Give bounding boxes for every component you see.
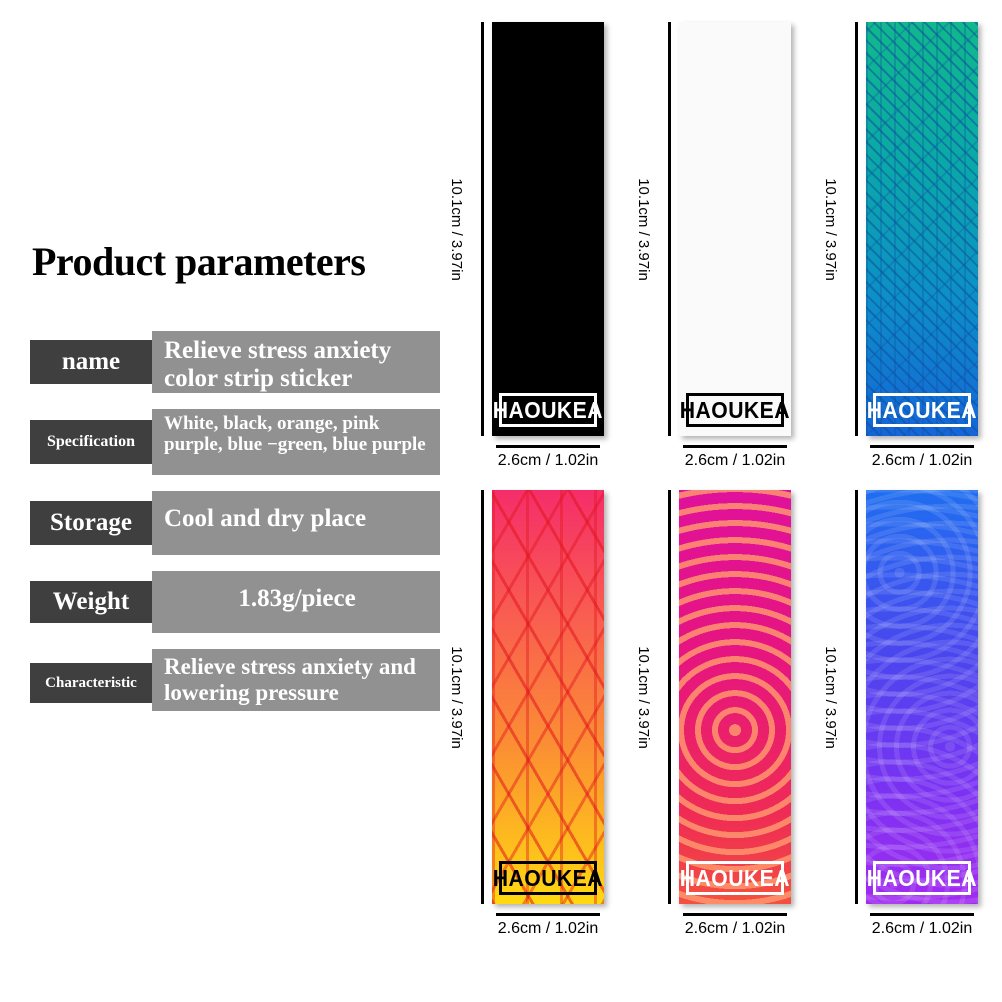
height-rule bbox=[481, 22, 484, 436]
table-row: name Relieve stress anxiety color strip … bbox=[30, 331, 440, 393]
table-row: Characteristic Relieve stress anxiety an… bbox=[30, 649, 440, 711]
width-measure-blue-green: 2.6cm / 1.02in bbox=[866, 445, 978, 470]
sticker-pattern-black bbox=[492, 22, 604, 436]
sticker-blue-green[interactable]: HAOUKEA bbox=[866, 22, 978, 436]
height-measure-black: 10.1cm / 3.97in bbox=[440, 22, 484, 436]
height-rule bbox=[855, 22, 858, 436]
height-rule bbox=[481, 490, 484, 904]
width-label: 2.6cm / 1.02in bbox=[872, 920, 973, 937]
sticker-black[interactable]: HAOUKEA bbox=[492, 22, 604, 436]
page-title: Product parameters bbox=[32, 238, 440, 285]
param-value-name: Relieve stress anxiety color strip stick… bbox=[152, 331, 440, 393]
sticker-cell-white: 10.1cm / 3.97in HAOUKEA 2.6cm / 1.02in bbox=[627, 22, 814, 470]
width-measure-white: 2.6cm / 1.02in bbox=[679, 445, 791, 470]
sticker-grid: 10.1cm / 3.97in HAOUKEA 2.6cm / 1.02in 1… bbox=[440, 22, 1002, 938]
table-row: Specification White, black, orange, pink… bbox=[30, 409, 440, 475]
sticker-white[interactable]: HAOUKEA bbox=[679, 22, 791, 436]
param-value-specification: White, black, orange, pink purple, blue … bbox=[152, 409, 440, 475]
height-measure-blue-green: 10.1cm / 3.97in bbox=[814, 22, 858, 436]
sticker-pattern-white bbox=[679, 22, 791, 436]
table-row: Storage Cool and dry place bbox=[30, 491, 440, 555]
height-label: 10.1cm / 3.97in bbox=[448, 646, 465, 749]
param-value-storage: Cool and dry place bbox=[152, 491, 440, 555]
param-value-characteristic: Relieve stress anxiety and lowering pres… bbox=[152, 649, 440, 711]
width-rule bbox=[496, 445, 600, 448]
sticker-cell-pink: 10.1cm / 3.97in HAOUKEA 2.6cm / 1.02in bbox=[627, 490, 814, 938]
width-label: 2.6cm / 1.02in bbox=[872, 452, 973, 469]
sticker-cell-blue-green: 10.1cm / 3.97in HAOUKEA 2.6cm / 1.02in bbox=[814, 22, 1001, 470]
param-key-name: name bbox=[30, 340, 152, 384]
width-rule bbox=[870, 445, 974, 448]
param-key-characteristic: Characteristic bbox=[30, 663, 152, 703]
brand-badge: HAOUKEA bbox=[686, 393, 784, 427]
width-label: 2.6cm / 1.02in bbox=[498, 920, 599, 937]
height-rule bbox=[668, 490, 671, 904]
param-value-weight: 1.83g/piece bbox=[152, 571, 440, 633]
brand-label: HAOUKEA bbox=[867, 397, 977, 424]
product-parameters-panel: Product parameters name Relieve stress a… bbox=[30, 238, 440, 727]
height-label: 10.1cm / 3.97in bbox=[635, 646, 652, 749]
width-rule bbox=[496, 913, 600, 916]
sticker-cell-blue-purple: 10.1cm / 3.97in HAOUKEA 2.6cm / 1.02in bbox=[814, 490, 1001, 938]
height-measure-orange: 10.1cm / 3.97in bbox=[440, 490, 484, 904]
width-rule bbox=[870, 913, 974, 916]
brand-label: HAOUKEA bbox=[493, 865, 603, 892]
height-measure-white: 10.1cm / 3.97in bbox=[627, 22, 671, 436]
brand-label: HAOUKEA bbox=[493, 397, 603, 424]
width-measure-black: 2.6cm / 1.02in bbox=[492, 445, 604, 470]
brand-badge: HAOUKEA bbox=[499, 393, 597, 427]
sticker-pattern-pink bbox=[679, 490, 791, 904]
width-measure-orange: 2.6cm / 1.02in bbox=[492, 913, 604, 938]
brand-badge: HAOUKEA bbox=[686, 861, 784, 895]
height-label: 10.1cm / 3.97in bbox=[822, 178, 839, 281]
width-label: 2.6cm / 1.02in bbox=[685, 920, 786, 937]
brand-label: HAOUKEA bbox=[867, 865, 977, 892]
sticker-orange[interactable]: HAOUKEA bbox=[492, 490, 604, 904]
height-rule bbox=[668, 22, 671, 436]
height-label: 10.1cm / 3.97in bbox=[635, 178, 652, 281]
sticker-blue-purple[interactable]: HAOUKEA bbox=[866, 490, 978, 904]
sticker-cell-black: 10.1cm / 3.97in HAOUKEA 2.6cm / 1.02in bbox=[440, 22, 627, 470]
width-measure-blue-purple: 2.6cm / 1.02in bbox=[866, 913, 978, 938]
sticker-cell-orange: 10.1cm / 3.97in HAOUKEA 2.6cm / 1.02in bbox=[440, 490, 627, 938]
height-measure-blue-purple: 10.1cm / 3.97in bbox=[814, 490, 858, 904]
width-measure-pink: 2.6cm / 1.02in bbox=[679, 913, 791, 938]
height-measure-pink: 10.1cm / 3.97in bbox=[627, 490, 671, 904]
brand-badge: HAOUKEA bbox=[873, 861, 971, 895]
sticker-pattern-blue-purple bbox=[866, 490, 978, 904]
brand-label: HAOUKEA bbox=[680, 865, 790, 892]
sticker-row: 10.1cm / 3.97in HAOUKEA 2.6cm / 1.02in 1… bbox=[440, 490, 1002, 938]
sticker-pattern-orange bbox=[492, 490, 604, 904]
width-rule bbox=[683, 445, 787, 448]
height-label: 10.1cm / 3.97in bbox=[822, 646, 839, 749]
width-label: 2.6cm / 1.02in bbox=[498, 452, 599, 469]
table-row: Weight 1.83g/piece bbox=[30, 571, 440, 633]
width-rule bbox=[683, 913, 787, 916]
brand-badge: HAOUKEA bbox=[873, 393, 971, 427]
brand-label: HAOUKEA bbox=[680, 397, 790, 424]
sticker-pink[interactable]: HAOUKEA bbox=[679, 490, 791, 904]
param-key-storage: Storage bbox=[30, 501, 152, 545]
height-rule bbox=[855, 490, 858, 904]
param-key-weight: Weight bbox=[30, 581, 152, 623]
param-key-specification: Specification bbox=[30, 420, 152, 464]
height-label: 10.1cm / 3.97in bbox=[448, 178, 465, 281]
sticker-pattern-blue-green bbox=[866, 22, 978, 436]
sticker-row: 10.1cm / 3.97in HAOUKEA 2.6cm / 1.02in 1… bbox=[440, 22, 1002, 470]
width-label: 2.6cm / 1.02in bbox=[685, 452, 786, 469]
brand-badge: HAOUKEA bbox=[499, 861, 597, 895]
